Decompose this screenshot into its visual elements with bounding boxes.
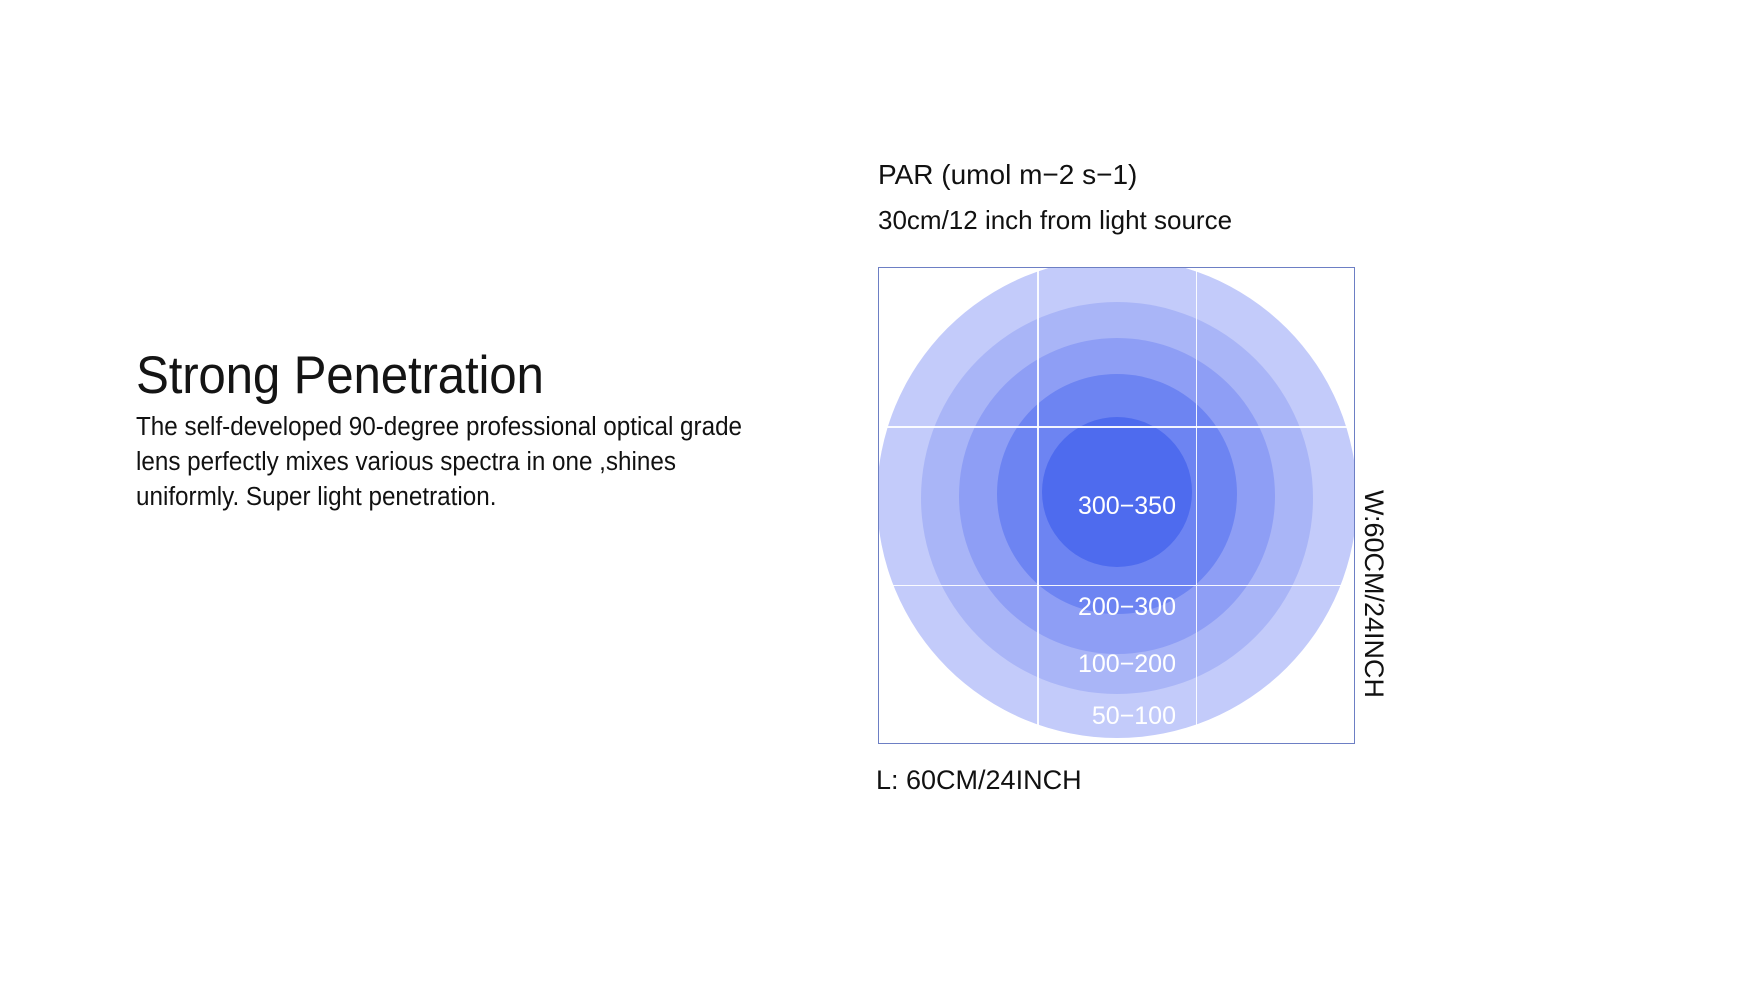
chart-title: PAR (umol m−2 s−1) [878,160,1137,191]
gridline-vertical [1196,268,1198,743]
feature-description: The self-developed 90-degree professiona… [136,410,763,514]
page-title: Strong Penetration [136,348,731,404]
contour-label-100-200: 100−200 [1078,652,1176,677]
chart-plot-area: 300−350 200−300 100−200 50−100 [878,267,1355,744]
chart-subtitle: 30cm/12 inch from light source [878,206,1232,235]
feature-text-panel: Strong Penetration The self-developed 90… [136,348,776,514]
gridline-horizontal [879,585,1354,587]
axis-label-width: W:60CM/24INCH [1358,490,1389,698]
contour-label-200-300: 200−300 [1078,595,1176,620]
contour-label-50-100: 50−100 [1092,704,1176,729]
gridline-horizontal [879,426,1354,428]
gridline-vertical [1037,268,1039,743]
axis-label-length: L: 60CM/24INCH [876,765,1082,796]
par-distribution-chart: PAR (umol m−2 s−1) 30cm/12 inch from lig… [876,160,1496,840]
contour-label-300-350: 300−350 [1078,494,1176,519]
